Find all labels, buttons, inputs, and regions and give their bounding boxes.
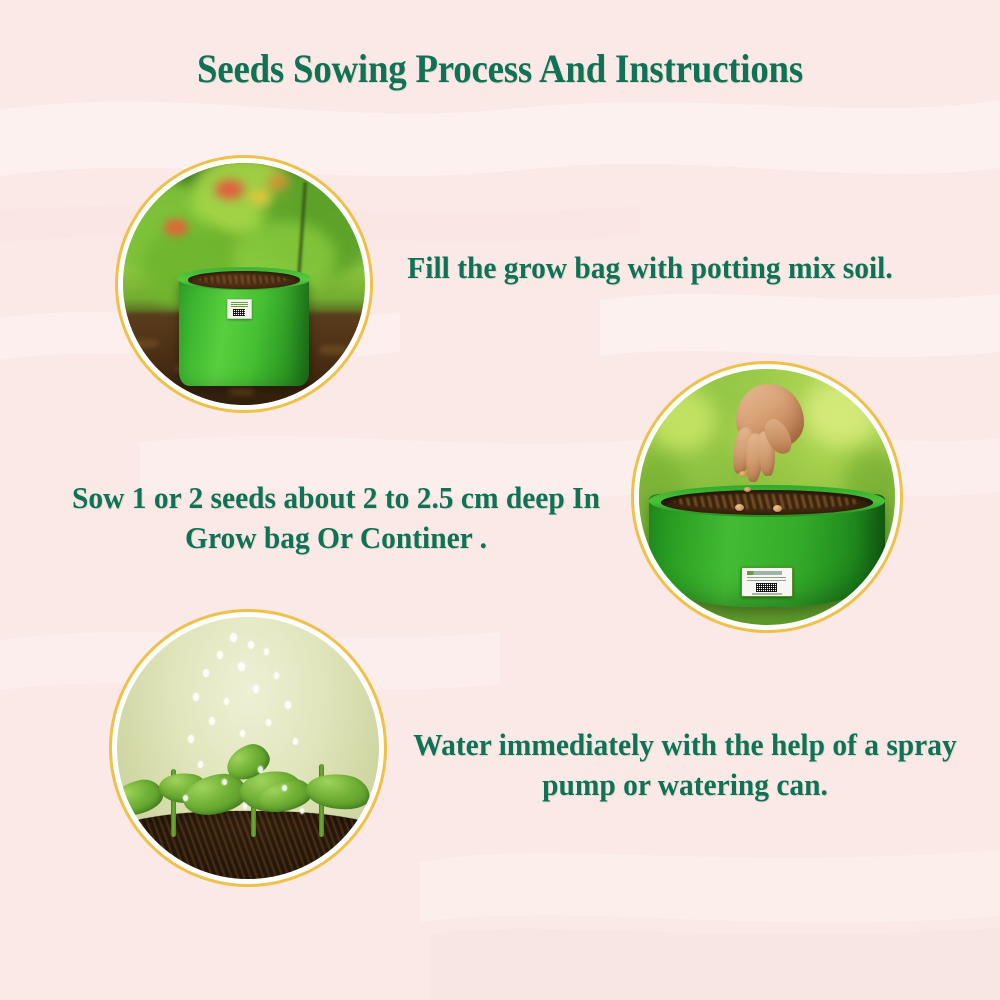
- seedling-icon: [282, 764, 361, 837]
- step-1-photo-grow-bag-filled-with-potting-mix-soil: [118, 158, 370, 410]
- water-droplet-icon: [264, 648, 269, 655]
- soil-speck: [319, 345, 348, 355]
- page-title: Seeds Sowing Process And Instructions: [40, 46, 960, 92]
- water-droplet-icon: [230, 633, 237, 642]
- step-3-instruction-text: Water immediately with the help of a spr…: [410, 725, 959, 805]
- garden-scene: [123, 163, 365, 405]
- water-droplet-icon: [224, 698, 229, 705]
- step-3-photo-inner: [117, 617, 379, 879]
- water-droplet-icon: [243, 803, 247, 809]
- water-droplet-icon: [238, 662, 245, 671]
- flower-blob-icon: [164, 219, 188, 236]
- soil-speck: [228, 388, 255, 395]
- step-2-instruction-text: Sow 1 or 2 seeds about 2 to 2.5 cm deep …: [72, 478, 600, 558]
- potting-mix-soil: [661, 490, 873, 515]
- step-2-photo-hand-sowing-seeds-into-grow-bag: [634, 364, 900, 630]
- seedling-leaf: [303, 769, 373, 815]
- potting-mix-soil: [188, 271, 300, 288]
- step-1-photo-inner: [123, 163, 365, 405]
- bokeh-blob-icon: [803, 379, 880, 446]
- water-droplet-icon: [217, 651, 223, 659]
- water-droplet-icon: [253, 685, 259, 693]
- infographic-root: Seeds Sowing Process And Instructions: [0, 0, 1000, 1000]
- grow-bag: [179, 277, 310, 386]
- water-droplet-icon: [209, 717, 215, 725]
- water-droplet-icon: [285, 701, 291, 709]
- seed-on-soil-icon: [773, 505, 782, 512]
- water-droplet-icon: [282, 785, 287, 791]
- water-droplet-icon: [183, 795, 188, 801]
- soil-speck: [127, 339, 159, 349]
- qr-code-icon: [756, 583, 778, 592]
- product-label-tag: [227, 299, 252, 320]
- step-2-photo-inner: [639, 369, 895, 625]
- product-label-tag-with-qr-code: [741, 567, 793, 597]
- label-footer-text: [752, 593, 782, 595]
- step-1-instruction-text: Fill the grow bag with potting mix soil.: [386, 248, 914, 288]
- water-droplet-icon: [274, 672, 279, 679]
- water-droplet-icon: [193, 693, 199, 701]
- water-droplet-icon: [240, 730, 245, 737]
- seed-on-soil-icon: [735, 504, 744, 511]
- water-droplet-icon: [188, 735, 194, 743]
- falling-seed-icon: [744, 487, 751, 492]
- water-droplet-icon: [203, 669, 209, 677]
- water-droplet-icon: [248, 641, 254, 649]
- label-face: [742, 568, 792, 596]
- step-3-photo-watering-seedlings: [112, 612, 384, 884]
- hand-icon: [716, 379, 808, 487]
- grow-bag: [649, 494, 885, 607]
- watering-scene: [117, 617, 379, 879]
- water-droplet-icon: [266, 719, 271, 726]
- water-droplet-icon: [198, 761, 203, 768]
- flower-blob-icon: [268, 175, 287, 190]
- flower-blob-icon: [249, 190, 271, 205]
- bokeh-blob-icon: [649, 389, 716, 450]
- water-droplet-icon: [293, 738, 298, 745]
- seedling-leaf: [117, 776, 166, 819]
- label-brand-mark: [747, 571, 782, 575]
- label-text-lines: [747, 577, 786, 583]
- sowing-scene: [639, 369, 895, 625]
